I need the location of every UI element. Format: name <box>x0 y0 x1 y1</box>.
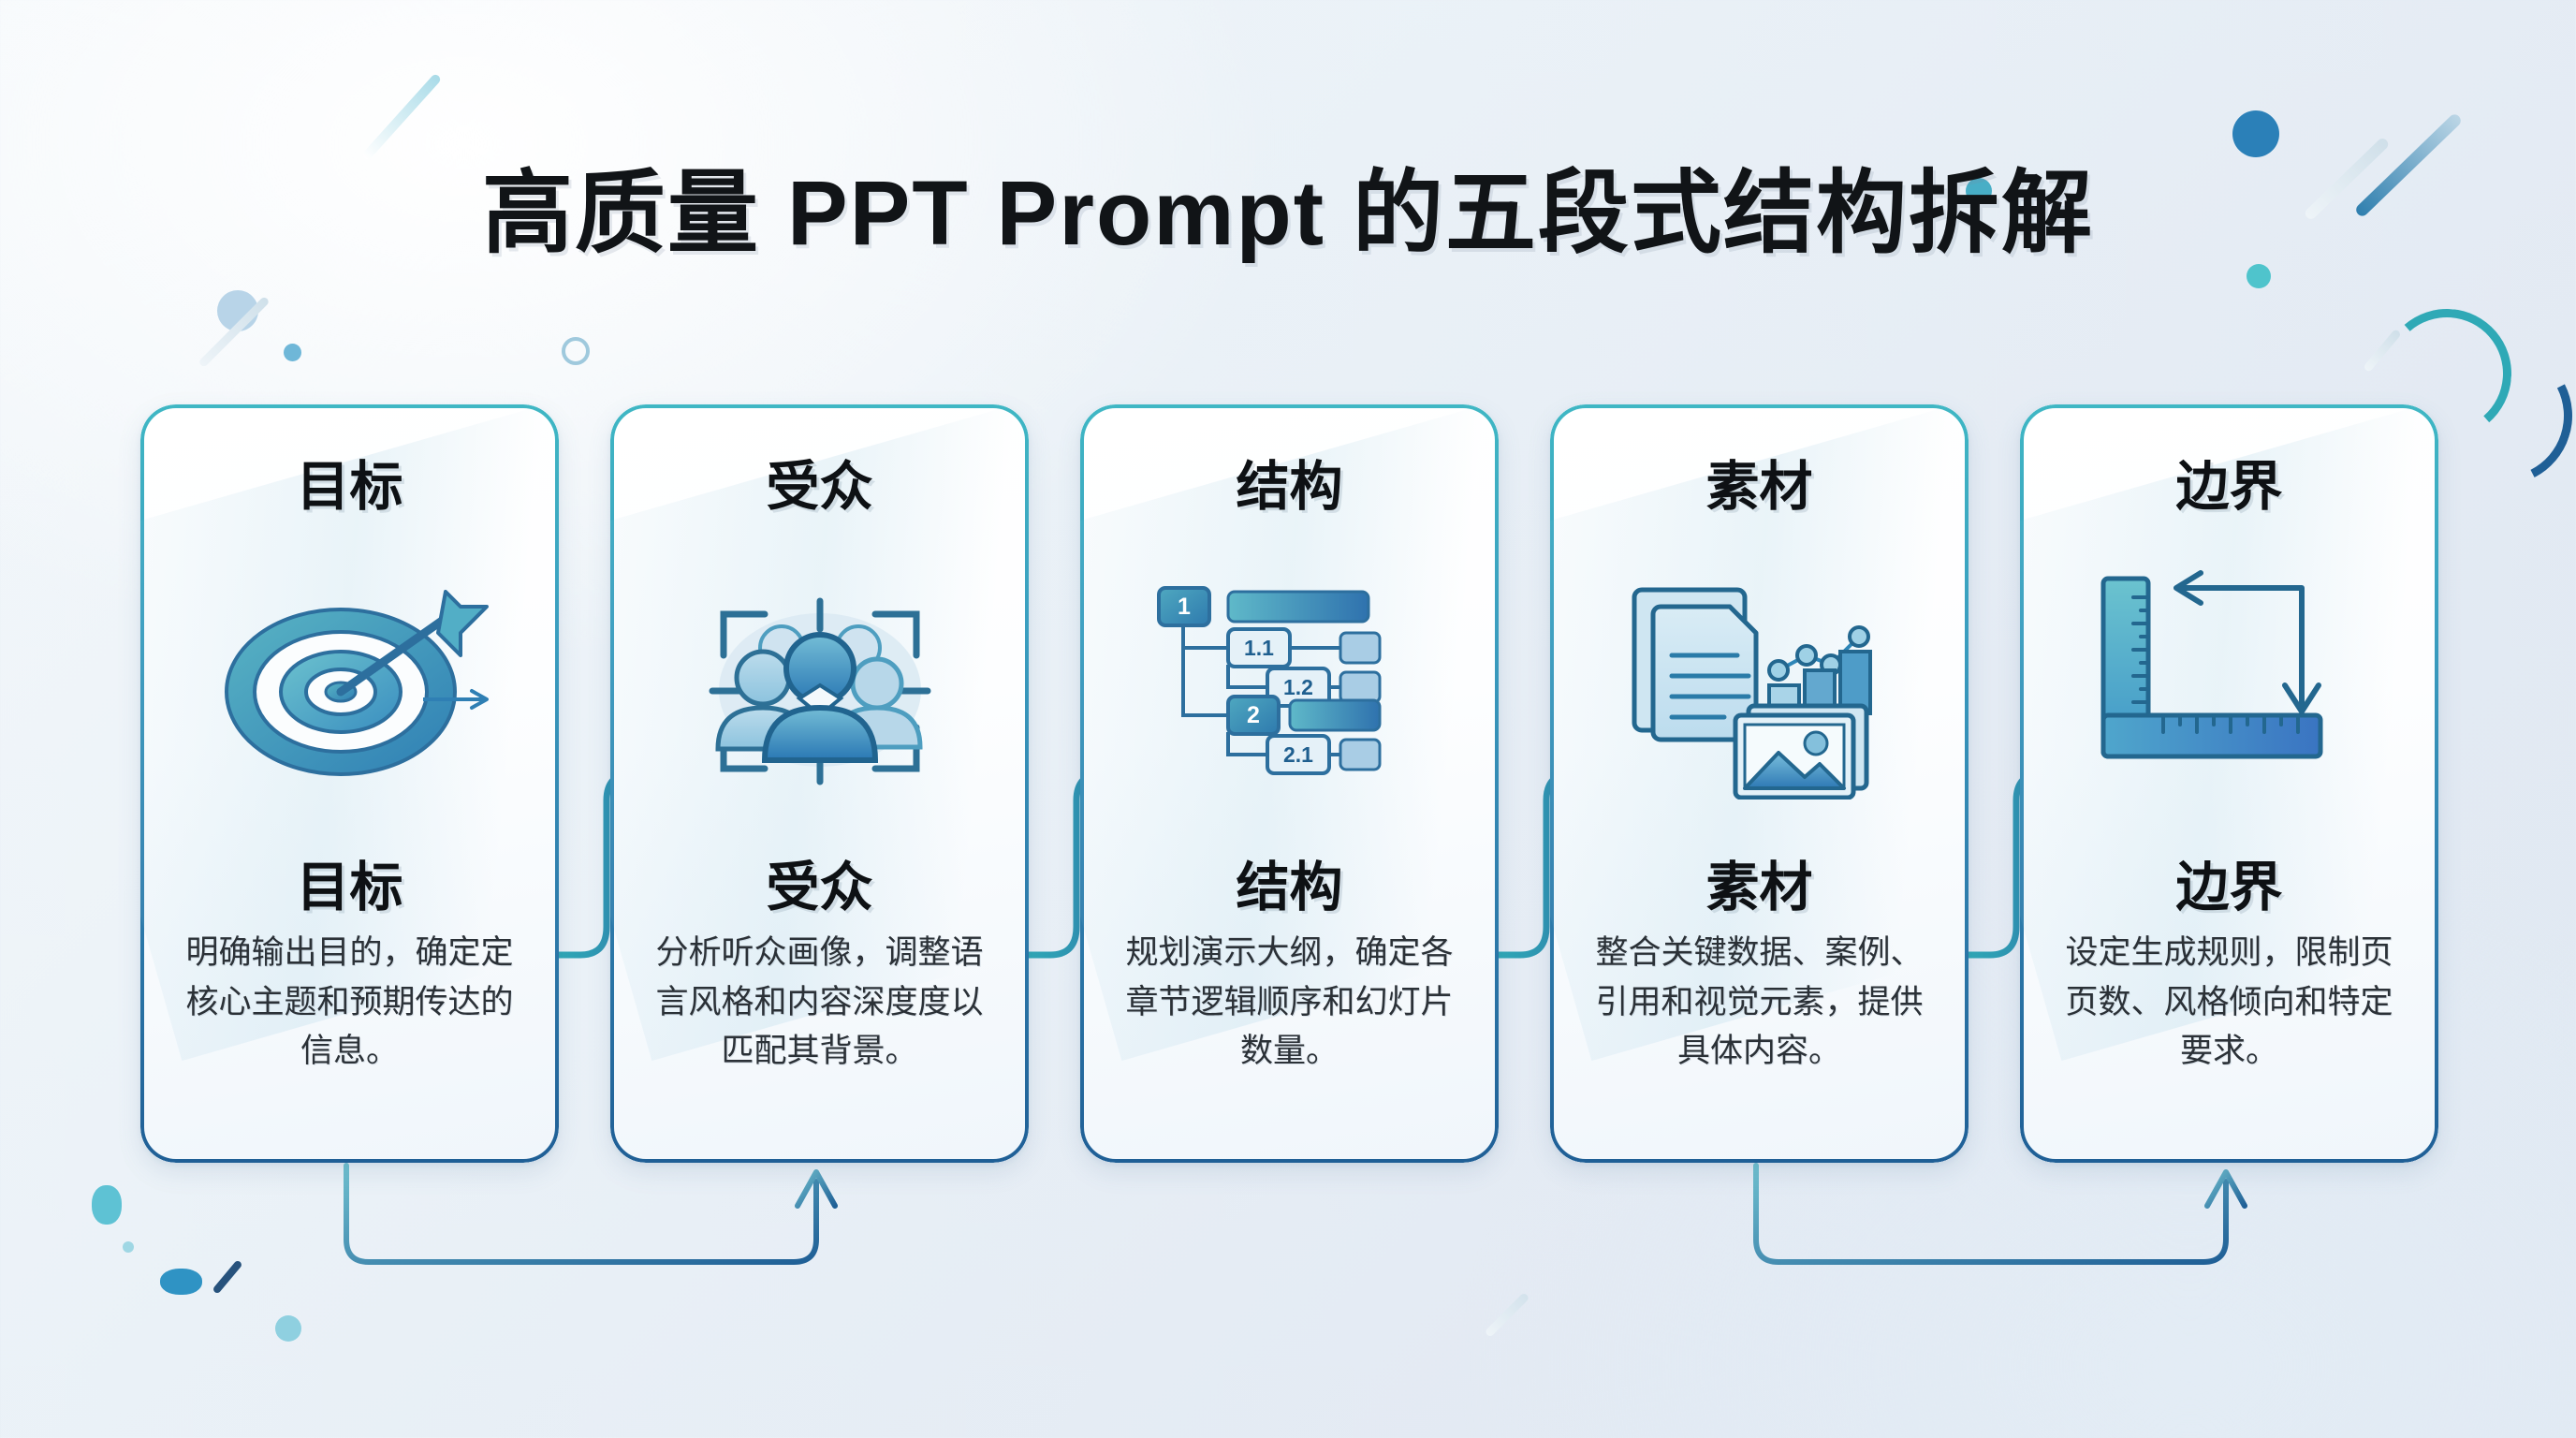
decor-streak <box>1485 1292 1530 1338</box>
card-boundary[interactable]: 边界 <box>2020 404 2438 1163</box>
ruler-boundary-icon <box>2020 547 2438 818</box>
decor-dot <box>217 290 258 331</box>
connector-loop-1-2 <box>346 1166 816 1262</box>
decor-ring <box>562 337 590 365</box>
card-top-title: 素材 <box>1550 444 1969 521</box>
card-top-title: 结构 <box>1080 444 1499 521</box>
card-main-title: 边界 <box>2020 844 2438 921</box>
card-description: 分析听众画像，调整语言风格和内容深度度以匹配其背景。 <box>642 929 997 1077</box>
page-title: 高质量 PPT Prompt 的五段式结构拆解 <box>482 139 2094 271</box>
card-description: 整合关键数据、案例、引用和视觉元素，提供具体内容。 <box>1582 929 1937 1077</box>
decor-dot <box>92 1185 122 1225</box>
card-main-title: 目标 <box>140 844 559 921</box>
card-description: 设定生成规则，限制页页数、风格倾向和特定要求。 <box>2052 929 2407 1077</box>
svg-text:2: 2 <box>1247 702 1260 728</box>
svg-text:2.1: 2.1 <box>1283 742 1313 767</box>
decor-streak <box>198 296 270 368</box>
card-top-title: 受众 <box>610 444 1029 521</box>
decor-dot <box>160 1269 202 1295</box>
svg-text:1.2: 1.2 <box>1283 675 1313 699</box>
target-arrow-icon <box>140 547 559 818</box>
outline-tree-icon: 1 1.1 1.2 2 2.1 <box>1080 547 1499 818</box>
card-top-title: 边界 <box>2020 444 2438 521</box>
decor-dot <box>284 344 301 361</box>
svg-text:1.1: 1.1 <box>1244 636 1274 660</box>
card-description: 规划演示大纲，确定各章节逻辑顺序和幻灯片数量。 <box>1112 929 1467 1077</box>
card-main-title: 素材 <box>1550 844 1969 921</box>
decor-dot <box>123 1241 134 1253</box>
connector-loop-arrow-4-5 <box>2207 1172 2245 1206</box>
card-description: 明确输出目的，确定定核心主题和预期传达的信息。 <box>172 929 527 1077</box>
svg-text:1: 1 <box>1178 594 1191 620</box>
cards-row: 目标 <box>140 404 2452 1163</box>
decor-streak <box>2363 329 2402 373</box>
decor-streak <box>212 1259 242 1294</box>
card-structure[interactable]: 结构 <box>1080 404 1499 1163</box>
card-top-title: 目标 <box>140 444 559 521</box>
connector-loop-arrow-1-2 <box>798 1172 835 1206</box>
card-main-title: 受众 <box>610 844 1029 921</box>
documents-chart-image-icon <box>1550 547 1969 818</box>
audience-group-icon <box>610 547 1029 818</box>
page-title-wrap: 高质量 PPT Prompt 的五段式结构拆解 <box>0 139 2576 271</box>
decor-dot <box>275 1315 301 1342</box>
card-objective[interactable]: 目标 <box>140 404 559 1163</box>
card-main-title: 结构 <box>1080 844 1499 921</box>
card-material[interactable]: 素材 <box>1550 404 1969 1163</box>
connector-loop-4-5 <box>1756 1166 2226 1262</box>
card-audience[interactable]: 受众 <box>610 404 1029 1163</box>
